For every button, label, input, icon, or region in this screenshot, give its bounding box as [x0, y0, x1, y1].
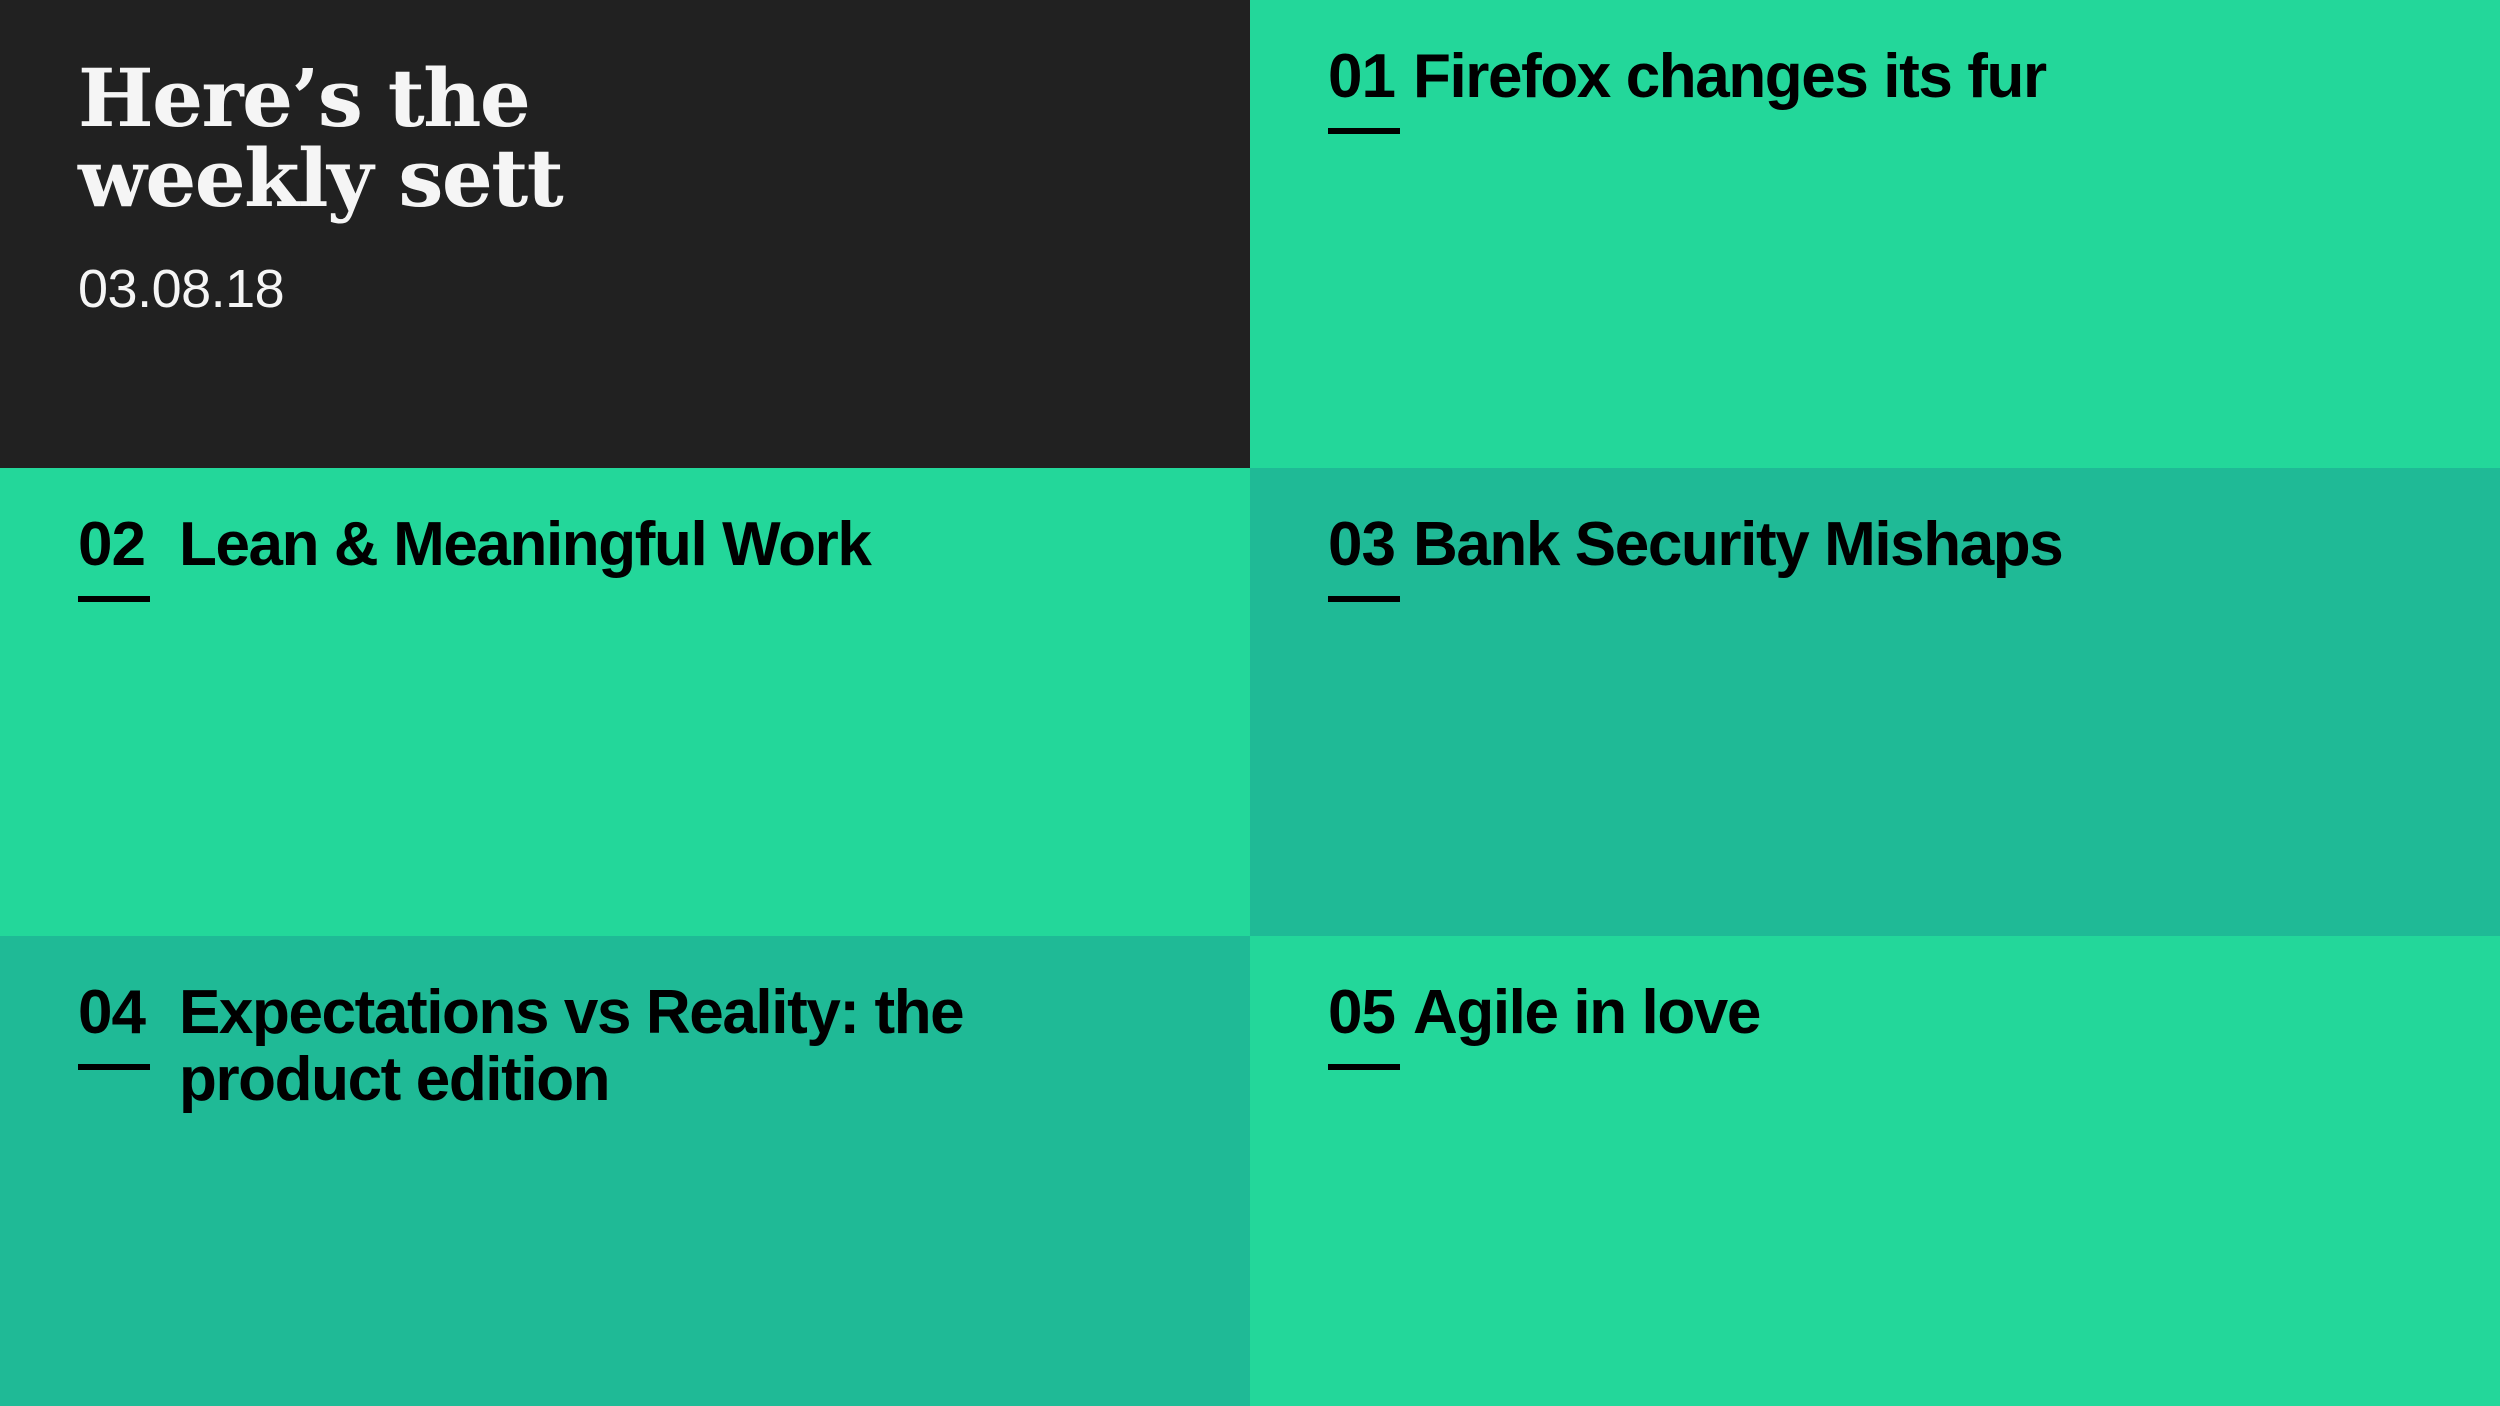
- story-cell-03[interactable]: 03 Bank Security Mishaps: [1250, 468, 2500, 936]
- story-title-03: Bank Security Mishaps: [1413, 512, 2062, 579]
- story-cell-04[interactable]: 04 Expectations vs Reality: theproduct e…: [0, 936, 1250, 1406]
- story-title-04-line-2: product edition: [179, 1045, 609, 1114]
- masthead-cell: Here’s theweekly sett 03.08.18: [0, 0, 1250, 468]
- story-title-05: Agile in love: [1413, 980, 1760, 1047]
- story-item[interactable]: 02 Lean & Meaningful Work: [78, 512, 1172, 579]
- story-number-01: 01: [1328, 44, 1413, 111]
- story-number-underline: [1328, 1064, 1400, 1070]
- page-title-line-2: weekly sett: [78, 131, 562, 225]
- issue-date: 03.08.18: [78, 262, 1172, 316]
- story-cell-05[interactable]: 05 Agile in love: [1250, 936, 2500, 1406]
- story-number-label: 02: [78, 512, 145, 579]
- story-number-underline: [78, 596, 150, 602]
- story-title-02: Lean & Meaningful Work: [179, 512, 870, 579]
- story-item[interactable]: 03 Bank Security Mishaps: [1328, 512, 2422, 579]
- story-number-label: 01: [1328, 44, 1395, 111]
- story-title-01: Firefox changes its fur: [1413, 44, 2046, 111]
- story-number-05: 05: [1328, 980, 1413, 1047]
- story-number-label: 04: [78, 980, 145, 1047]
- story-title-04: Expectations vs Reality: theproduct edit…: [179, 980, 963, 1114]
- story-number-label: 03: [1328, 512, 1395, 579]
- story-number-underline: [1328, 128, 1400, 134]
- story-number-label: 05: [1328, 980, 1395, 1047]
- story-item[interactable]: 01 Firefox changes its fur: [1328, 44, 2422, 111]
- story-cell-02[interactable]: 02 Lean & Meaningful Work: [0, 468, 1250, 936]
- story-number-02: 02: [78, 512, 179, 579]
- story-number-underline: [78, 1064, 150, 1070]
- newsletter-grid: Here’s theweekly sett 03.08.18 01 Firefo…: [0, 0, 2500, 1406]
- story-title-04-line-1: Expectations vs Reality: the: [179, 978, 963, 1047]
- story-number-underline: [1328, 596, 1400, 602]
- page-title: Here’s theweekly sett: [78, 58, 778, 218]
- story-item[interactable]: 05 Agile in love: [1328, 980, 2422, 1047]
- story-cell-01[interactable]: 01 Firefox changes its fur: [1250, 0, 2500, 468]
- story-number-04: 04: [78, 980, 179, 1047]
- story-item[interactable]: 04 Expectations vs Reality: theproduct e…: [78, 980, 1172, 1114]
- story-number-03: 03: [1328, 512, 1413, 579]
